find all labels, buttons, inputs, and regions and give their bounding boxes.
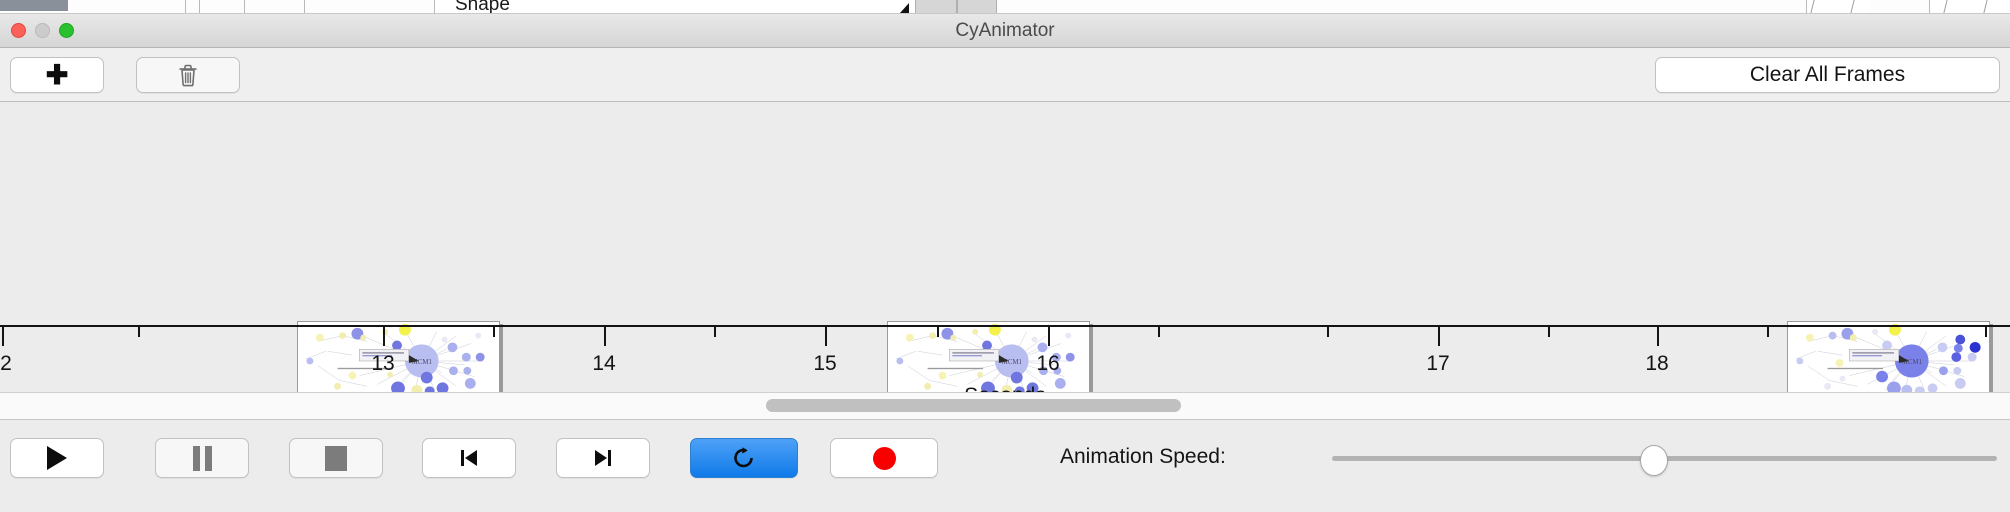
- timeline-axis: [0, 325, 2010, 327]
- stop-button[interactable]: [289, 438, 383, 478]
- background-window-dark-region: [0, 0, 68, 11]
- axis-tick-label: 16: [1036, 352, 1059, 376]
- toolbar: ✚ Clear All Frames: [0, 48, 2010, 102]
- background-slash: [1810, 0, 1814, 13]
- axis-tick-major: [383, 327, 385, 346]
- axis-tick-label: 2: [0, 352, 12, 376]
- skip-to-end-button[interactable]: [556, 438, 650, 478]
- background-slash: [1983, 0, 1987, 13]
- timeline-panel[interactable]: MCM1: [0, 102, 2010, 393]
- transport-bar: Animation Speed:: [0, 420, 2010, 512]
- axis-tick-minor: [714, 327, 716, 337]
- axis-tick-minor: [1985, 327, 1987, 337]
- pause-icon: [193, 446, 212, 471]
- background-tab: [200, 0, 245, 13]
- stop-icon: [325, 446, 347, 471]
- record-button[interactable]: [830, 438, 938, 478]
- axis-tick-label: 15: [813, 352, 836, 376]
- axis-tick-major: [825, 327, 827, 346]
- axis-tick-label: 14: [592, 352, 615, 376]
- background-greybox: [915, 0, 957, 13]
- axis-title: Seconds: [0, 384, 2010, 393]
- background-cursor-glyph: [900, 3, 909, 13]
- window-title: CyAnimator: [0, 20, 2010, 42]
- background-window-strip: Shape: [0, 0, 2010, 13]
- timeline-scrollbar-thumb[interactable]: [766, 399, 1181, 412]
- delete-frame-button[interactable]: [136, 57, 240, 93]
- frame-thumbnail-1[interactable]: MCM1: [297, 321, 500, 393]
- plus-icon: ✚: [46, 62, 69, 89]
- axis-tick-major: [2, 327, 4, 346]
- play-icon: [47, 446, 67, 470]
- skip-to-start-button[interactable]: [422, 438, 516, 478]
- background-tab: [245, 0, 305, 13]
- axis-tick-major: [1048, 327, 1050, 346]
- background-tab: [186, 0, 200, 13]
- clear-all-frames-button[interactable]: Clear All Frames: [1655, 57, 2000, 93]
- network-graph-icon: MCM1: [298, 322, 499, 393]
- titlebar: CyAnimator: [0, 14, 2010, 48]
- play-button[interactable]: [10, 438, 104, 478]
- frame-thumbnail-3[interactable]: MCM1: [1787, 321, 1990, 393]
- record-icon: [873, 447, 896, 470]
- axis-tick-minor: [1767, 327, 1769, 337]
- axis-tick-minor: [493, 327, 495, 337]
- axis-tick-label: 17: [1426, 352, 1449, 376]
- axis-tick-major: [604, 327, 606, 346]
- background-slash: [1943, 0, 1947, 13]
- background-tab: [1870, 0, 1930, 13]
- axis-tick-minor: [1327, 327, 1329, 337]
- axis-tick-minor: [937, 327, 939, 337]
- skip-forward-icon: [591, 446, 615, 470]
- skip-back-icon: [457, 446, 481, 470]
- background-tab: [305, 0, 435, 13]
- axis-tick-major: [1438, 327, 1440, 346]
- axis-tick-minor: [1158, 327, 1160, 337]
- axis-tick-label: 18: [1645, 352, 1668, 376]
- network-graph-icon: MCM1: [1788, 322, 1989, 393]
- cyanimator-window: CyAnimator ✚ Clear All Frames: [0, 13, 2010, 510]
- loop-icon: [730, 444, 758, 472]
- pause-button[interactable]: [155, 438, 249, 478]
- axis-tick-minor: [138, 327, 140, 337]
- loop-button[interactable]: [690, 438, 798, 478]
- add-frame-button[interactable]: ✚: [10, 57, 104, 93]
- axis-tick-minor: [1548, 327, 1550, 337]
- trash-icon: [178, 64, 198, 87]
- axis-tick-major: [1657, 327, 1659, 346]
- background-tab: [68, 0, 186, 13]
- animation-speed-slider-thumb[interactable]: [1640, 445, 1668, 476]
- background-window-label: Shape: [455, 0, 510, 13]
- background-greybox: [957, 0, 997, 13]
- animation-speed-label: Animation Speed:: [1060, 445, 1226, 469]
- background-slash: [1850, 0, 1854, 13]
- background-tab: [997, 0, 1807, 13]
- timeline-scrollbar[interactable]: [0, 393, 2010, 420]
- axis-tick-label: 13: [371, 352, 394, 376]
